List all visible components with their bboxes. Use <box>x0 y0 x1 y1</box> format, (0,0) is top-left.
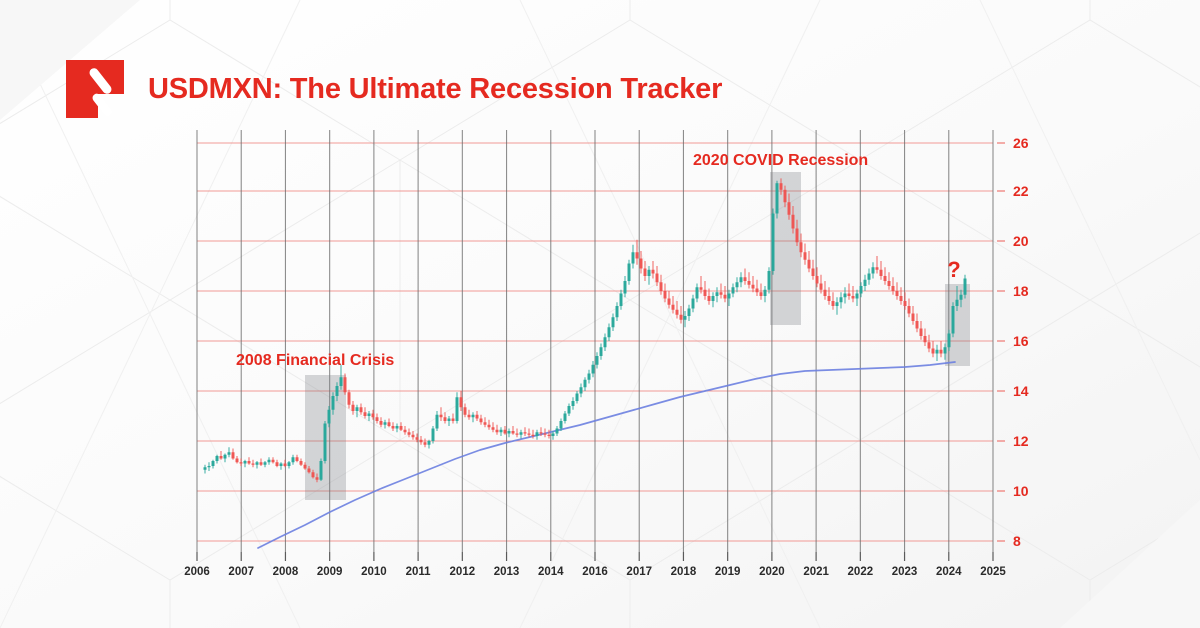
candlestick <box>652 261 655 279</box>
candle-body <box>528 434 531 435</box>
candlestick <box>832 292 835 310</box>
y-axis-label: 16 <box>1013 333 1029 349</box>
y-axis-label: 22 <box>1013 183 1029 199</box>
candlestick <box>724 286 727 302</box>
candle-body <box>396 426 399 429</box>
candlestick <box>484 417 487 427</box>
candlestick <box>388 419 391 428</box>
x-axis-label: 2014 <box>538 566 564 578</box>
candlestick <box>236 456 239 464</box>
candle-body <box>952 306 955 334</box>
candle-body <box>296 457 299 461</box>
candle-body <box>316 477 319 480</box>
candle-body <box>960 295 963 300</box>
candlestick <box>924 329 927 347</box>
candlestick <box>368 411 371 421</box>
candlestick <box>296 455 299 463</box>
candlestick <box>364 407 367 418</box>
x-axis-label: 2006 <box>184 566 210 578</box>
candlestick <box>696 284 699 303</box>
candlestick <box>760 284 763 300</box>
page-title: USDMXN: The Ultimate Recession Tracker <box>148 75 722 104</box>
candle-body <box>728 294 731 299</box>
candlestick <box>640 251 643 274</box>
candle-body <box>828 296 831 301</box>
candle-body <box>560 421 563 429</box>
candle-body <box>860 286 863 294</box>
candlestick <box>608 324 611 342</box>
recession-label-2020: 2020 COVID Recession <box>693 152 868 169</box>
candle-body <box>216 456 219 461</box>
candle-body <box>708 296 711 301</box>
candle-body <box>904 301 907 306</box>
y-axis: 26222018161412108 <box>997 135 1029 549</box>
candlestick <box>660 275 663 295</box>
candle-body <box>600 347 603 356</box>
candlestick <box>916 314 919 333</box>
candle-body <box>712 296 715 301</box>
candlestick <box>396 424 399 433</box>
candlestick <box>252 460 255 468</box>
candle-body <box>532 435 535 436</box>
candle-body <box>420 440 423 443</box>
candlestick <box>776 181 779 219</box>
candlestick <box>264 461 267 467</box>
x-axis-label: 2007 <box>228 566 254 578</box>
candle-body <box>384 422 387 425</box>
candlestick <box>384 420 387 429</box>
candle-body <box>452 419 455 422</box>
candlestick <box>276 460 279 468</box>
candlestick <box>240 459 243 467</box>
candle-body <box>248 461 251 464</box>
candlestick <box>244 460 247 468</box>
candle-body <box>516 434 519 435</box>
y-axis-label: 14 <box>1013 383 1029 399</box>
candle-body <box>912 314 915 322</box>
candlestick <box>536 430 539 440</box>
x-axis-label: 2012 <box>450 566 476 578</box>
candlestick <box>692 295 695 313</box>
candlestick <box>356 405 359 418</box>
y-axis-label: 20 <box>1013 233 1029 249</box>
candle-body <box>588 374 591 380</box>
candlestick <box>824 281 827 300</box>
candle-body <box>236 459 239 463</box>
candle-body <box>320 461 323 480</box>
candlestick <box>444 412 447 423</box>
candlestick <box>428 440 431 449</box>
candlestick <box>376 414 379 424</box>
candlestick <box>876 256 879 274</box>
candlestick <box>628 260 631 285</box>
candle-body <box>628 264 631 282</box>
candlestick <box>300 459 303 467</box>
candle-body <box>888 281 891 286</box>
candle-body <box>692 299 695 309</box>
candlestick <box>772 209 775 275</box>
candle-body <box>536 432 539 436</box>
x-axis-label: 2008 <box>273 566 299 578</box>
candlestick <box>408 429 411 438</box>
candle-body <box>800 242 803 252</box>
candle-body <box>564 414 567 422</box>
candle-body <box>832 301 835 306</box>
candle-body <box>364 412 367 416</box>
y-axis-label: 26 <box>1013 135 1029 151</box>
candle-body <box>596 356 599 365</box>
candlestick <box>736 277 739 292</box>
candle-body <box>612 317 615 327</box>
candlestick <box>404 426 407 435</box>
candlestick <box>672 296 675 314</box>
candle-body <box>700 287 703 290</box>
candle-body <box>500 430 503 433</box>
candle-body <box>220 456 223 459</box>
candlestick <box>392 422 395 431</box>
candlestick <box>248 457 251 465</box>
candle-body <box>820 284 823 290</box>
candlestick <box>480 415 483 425</box>
candlestick <box>668 291 671 309</box>
candle-body <box>876 267 879 270</box>
candle-body <box>936 350 939 354</box>
candlestick <box>476 411 479 421</box>
candlestick <box>908 299 911 318</box>
candle-body <box>436 415 439 429</box>
candle-body <box>508 431 511 434</box>
candle-body <box>328 410 331 424</box>
x-axis-label: 2023 <box>892 566 918 578</box>
candle-body <box>240 462 243 463</box>
candle-body <box>724 295 727 299</box>
candle-body <box>920 329 923 337</box>
candle-body <box>776 183 779 213</box>
candlestick <box>272 457 275 463</box>
candlestick <box>324 421 327 464</box>
ma-line-path <box>258 362 955 548</box>
candle-body <box>704 290 707 296</box>
candlestick <box>468 410 471 420</box>
candle-body <box>424 442 427 445</box>
candlestick <box>632 245 635 269</box>
candle-body <box>852 296 855 299</box>
candlestick <box>656 266 659 286</box>
x-axis-label: 2017 <box>626 566 652 578</box>
candlestick <box>856 290 859 306</box>
candlestick <box>712 292 715 307</box>
candle-body <box>204 467 207 470</box>
candle-body <box>844 294 847 298</box>
candlestick <box>360 404 363 415</box>
candle-body <box>736 282 739 287</box>
candle-body <box>716 292 719 296</box>
candle-body <box>796 229 799 243</box>
candle-body <box>488 425 491 428</box>
candlestick <box>904 292 907 310</box>
candlestick <box>348 390 351 409</box>
candlestick <box>912 306 915 325</box>
x-axis-label: 2025 <box>980 566 1006 578</box>
candle-body <box>340 377 343 386</box>
candle-body <box>468 415 471 418</box>
candle-body <box>684 316 687 320</box>
candle-body <box>868 274 871 280</box>
candlestick <box>288 461 291 469</box>
candle-body <box>756 289 759 293</box>
candle-body <box>580 387 583 393</box>
candlestick <box>440 407 443 421</box>
candlestick <box>568 404 571 417</box>
x-axis-label: 2013 <box>494 566 520 578</box>
candle-body <box>652 270 655 274</box>
candlestick <box>224 454 227 463</box>
y-axis-label: 8 <box>1013 533 1021 549</box>
candle-body <box>300 461 303 465</box>
candlestick <box>508 429 511 438</box>
candle-body <box>292 457 295 462</box>
candle-body <box>412 435 415 438</box>
candlestick <box>256 461 259 469</box>
candle-body <box>636 252 639 258</box>
candlestick <box>516 429 519 438</box>
candlestick <box>228 447 231 457</box>
candle-body <box>324 424 327 462</box>
candle-body <box>552 434 555 437</box>
candlestick <box>716 287 719 302</box>
candle-body <box>732 287 735 293</box>
candlestick <box>932 341 935 357</box>
candle-body <box>836 302 839 306</box>
candlestick <box>528 429 531 438</box>
candle-body <box>632 252 635 263</box>
candle-body <box>680 315 683 320</box>
candlestick <box>664 284 667 303</box>
candlestick <box>688 305 691 321</box>
candle-body <box>400 426 403 430</box>
candlestick <box>920 321 923 340</box>
candle-body <box>772 214 775 272</box>
candlestick <box>432 426 435 444</box>
candle-body <box>768 271 771 290</box>
y-axis-label: 18 <box>1013 283 1029 299</box>
candlestick <box>208 462 211 471</box>
candlestick <box>380 417 383 427</box>
candle-body <box>940 350 943 354</box>
candle-body <box>676 310 679 315</box>
candle-body <box>608 327 611 337</box>
candle-body <box>784 190 787 202</box>
candle-body <box>576 394 579 402</box>
candle-body <box>472 415 475 418</box>
candlestick <box>940 341 943 357</box>
candle-body <box>368 414 371 417</box>
candle-body <box>856 294 859 299</box>
candlestick <box>548 430 551 439</box>
candlestick <box>680 306 683 324</box>
candlestick <box>936 345 939 361</box>
candlestick <box>268 457 271 465</box>
candlestick <box>848 284 851 300</box>
candlestick <box>620 290 623 310</box>
candle-body <box>896 291 899 296</box>
candlestick <box>880 261 883 280</box>
candlestick <box>644 261 647 281</box>
candlestick <box>868 269 871 285</box>
candlestick <box>732 284 735 298</box>
candlestick <box>648 266 651 285</box>
candle-body <box>388 422 391 426</box>
candle-body <box>416 437 419 440</box>
candle-body <box>504 430 507 434</box>
y-axis-label: 12 <box>1013 433 1029 449</box>
x-axis: 2006200720082009201020112012201320142016… <box>184 552 1006 578</box>
candle-body <box>344 377 347 392</box>
candle-body <box>928 342 931 348</box>
candle-body <box>760 292 763 296</box>
candle-body <box>448 419 451 422</box>
candle-body <box>892 286 895 291</box>
candlestick <box>748 272 751 288</box>
fx-logo-icon <box>64 58 126 120</box>
candlestick <box>704 281 707 300</box>
candle-body <box>476 415 479 419</box>
candlestick <box>580 384 583 398</box>
candle-body <box>572 401 575 406</box>
candle-body <box>884 276 887 281</box>
candle-body <box>964 279 967 295</box>
candlestick <box>612 314 615 332</box>
y-axis-label: 10 <box>1013 483 1029 499</box>
x-axis-label: 2009 <box>317 566 343 578</box>
candle-body <box>944 347 947 353</box>
candle-body <box>512 431 515 434</box>
candlestick <box>752 276 755 292</box>
candle-body <box>656 274 659 283</box>
candlestick <box>872 262 875 278</box>
candlestick <box>292 455 295 465</box>
candlestick <box>284 460 287 468</box>
candlestick <box>892 277 895 295</box>
candle-body <box>524 432 527 433</box>
candle-body <box>640 259 643 269</box>
candlestick <box>636 240 639 265</box>
candle-body <box>244 461 247 464</box>
candle-body <box>408 432 411 435</box>
candle-body <box>672 305 675 310</box>
candle-body <box>332 396 335 410</box>
candle-body <box>444 417 447 421</box>
candle-body <box>372 414 375 418</box>
candle-body <box>788 202 791 215</box>
candlestick <box>420 436 423 445</box>
candlestick <box>212 460 215 469</box>
candlestick <box>352 401 355 415</box>
candlestick <box>488 420 491 430</box>
candlestick <box>884 267 887 285</box>
x-axis-label: 2020 <box>759 566 785 578</box>
candle-body <box>272 460 275 463</box>
candlestick <box>600 344 603 360</box>
candlestick <box>576 391 579 404</box>
candlestick <box>496 425 499 435</box>
candle-body <box>720 292 723 295</box>
candle-body <box>824 290 827 296</box>
candle-body <box>480 419 483 423</box>
candle-body <box>668 299 671 305</box>
candlestick <box>400 422 403 431</box>
x-axis-label: 2024 <box>936 566 962 578</box>
candle-body <box>232 452 235 458</box>
candle-body <box>348 392 351 405</box>
candle-body <box>956 300 959 306</box>
candle-body <box>664 291 667 299</box>
candle-body <box>924 336 927 342</box>
candle-body <box>780 183 783 190</box>
candlestick <box>928 335 931 353</box>
candle-body <box>840 297 843 302</box>
candle-body <box>764 290 767 296</box>
candle-body <box>620 294 623 307</box>
candle-body <box>264 462 267 465</box>
candle-body <box>492 427 495 430</box>
candle-body <box>644 269 647 277</box>
candlestick <box>520 430 523 439</box>
candle-body <box>908 306 911 314</box>
x-axis-label: 2016 <box>582 566 608 578</box>
candlestick <box>596 352 599 368</box>
candle-body <box>228 452 231 455</box>
candlestick <box>896 282 899 300</box>
candle-body <box>392 426 395 429</box>
candle-body <box>376 417 379 421</box>
candle-body <box>496 430 499 433</box>
candlestick <box>844 287 847 303</box>
candle-body <box>256 462 259 465</box>
candlestick <box>220 451 223 460</box>
recession-label-2024: ? <box>947 257 960 282</box>
candle-body <box>484 422 487 425</box>
candlestick <box>448 416 451 426</box>
candlestick <box>768 267 771 293</box>
candle-body <box>208 466 211 467</box>
candlestick <box>204 465 207 474</box>
candle-body <box>288 462 291 466</box>
candle-body <box>804 252 807 260</box>
candle-body <box>948 334 951 348</box>
candlestick <box>232 449 235 460</box>
candlestick <box>852 286 855 302</box>
candlestick <box>216 455 219 464</box>
candlestick <box>616 302 619 321</box>
candlestick <box>472 412 475 422</box>
candlestick <box>676 301 679 319</box>
candlestick <box>804 244 807 265</box>
candlestick <box>900 287 903 305</box>
candle-body <box>540 432 543 433</box>
candlestick <box>456 392 459 423</box>
candlestick <box>740 272 743 287</box>
candle-body <box>604 337 607 347</box>
candlestick <box>808 251 811 272</box>
candle-body <box>460 397 463 407</box>
candle-body <box>276 462 279 466</box>
x-axis-label: 2019 <box>715 566 741 578</box>
candlestick <box>320 459 323 482</box>
candle-body <box>336 386 339 396</box>
candle-body <box>544 434 547 435</box>
candle-body <box>212 461 215 466</box>
